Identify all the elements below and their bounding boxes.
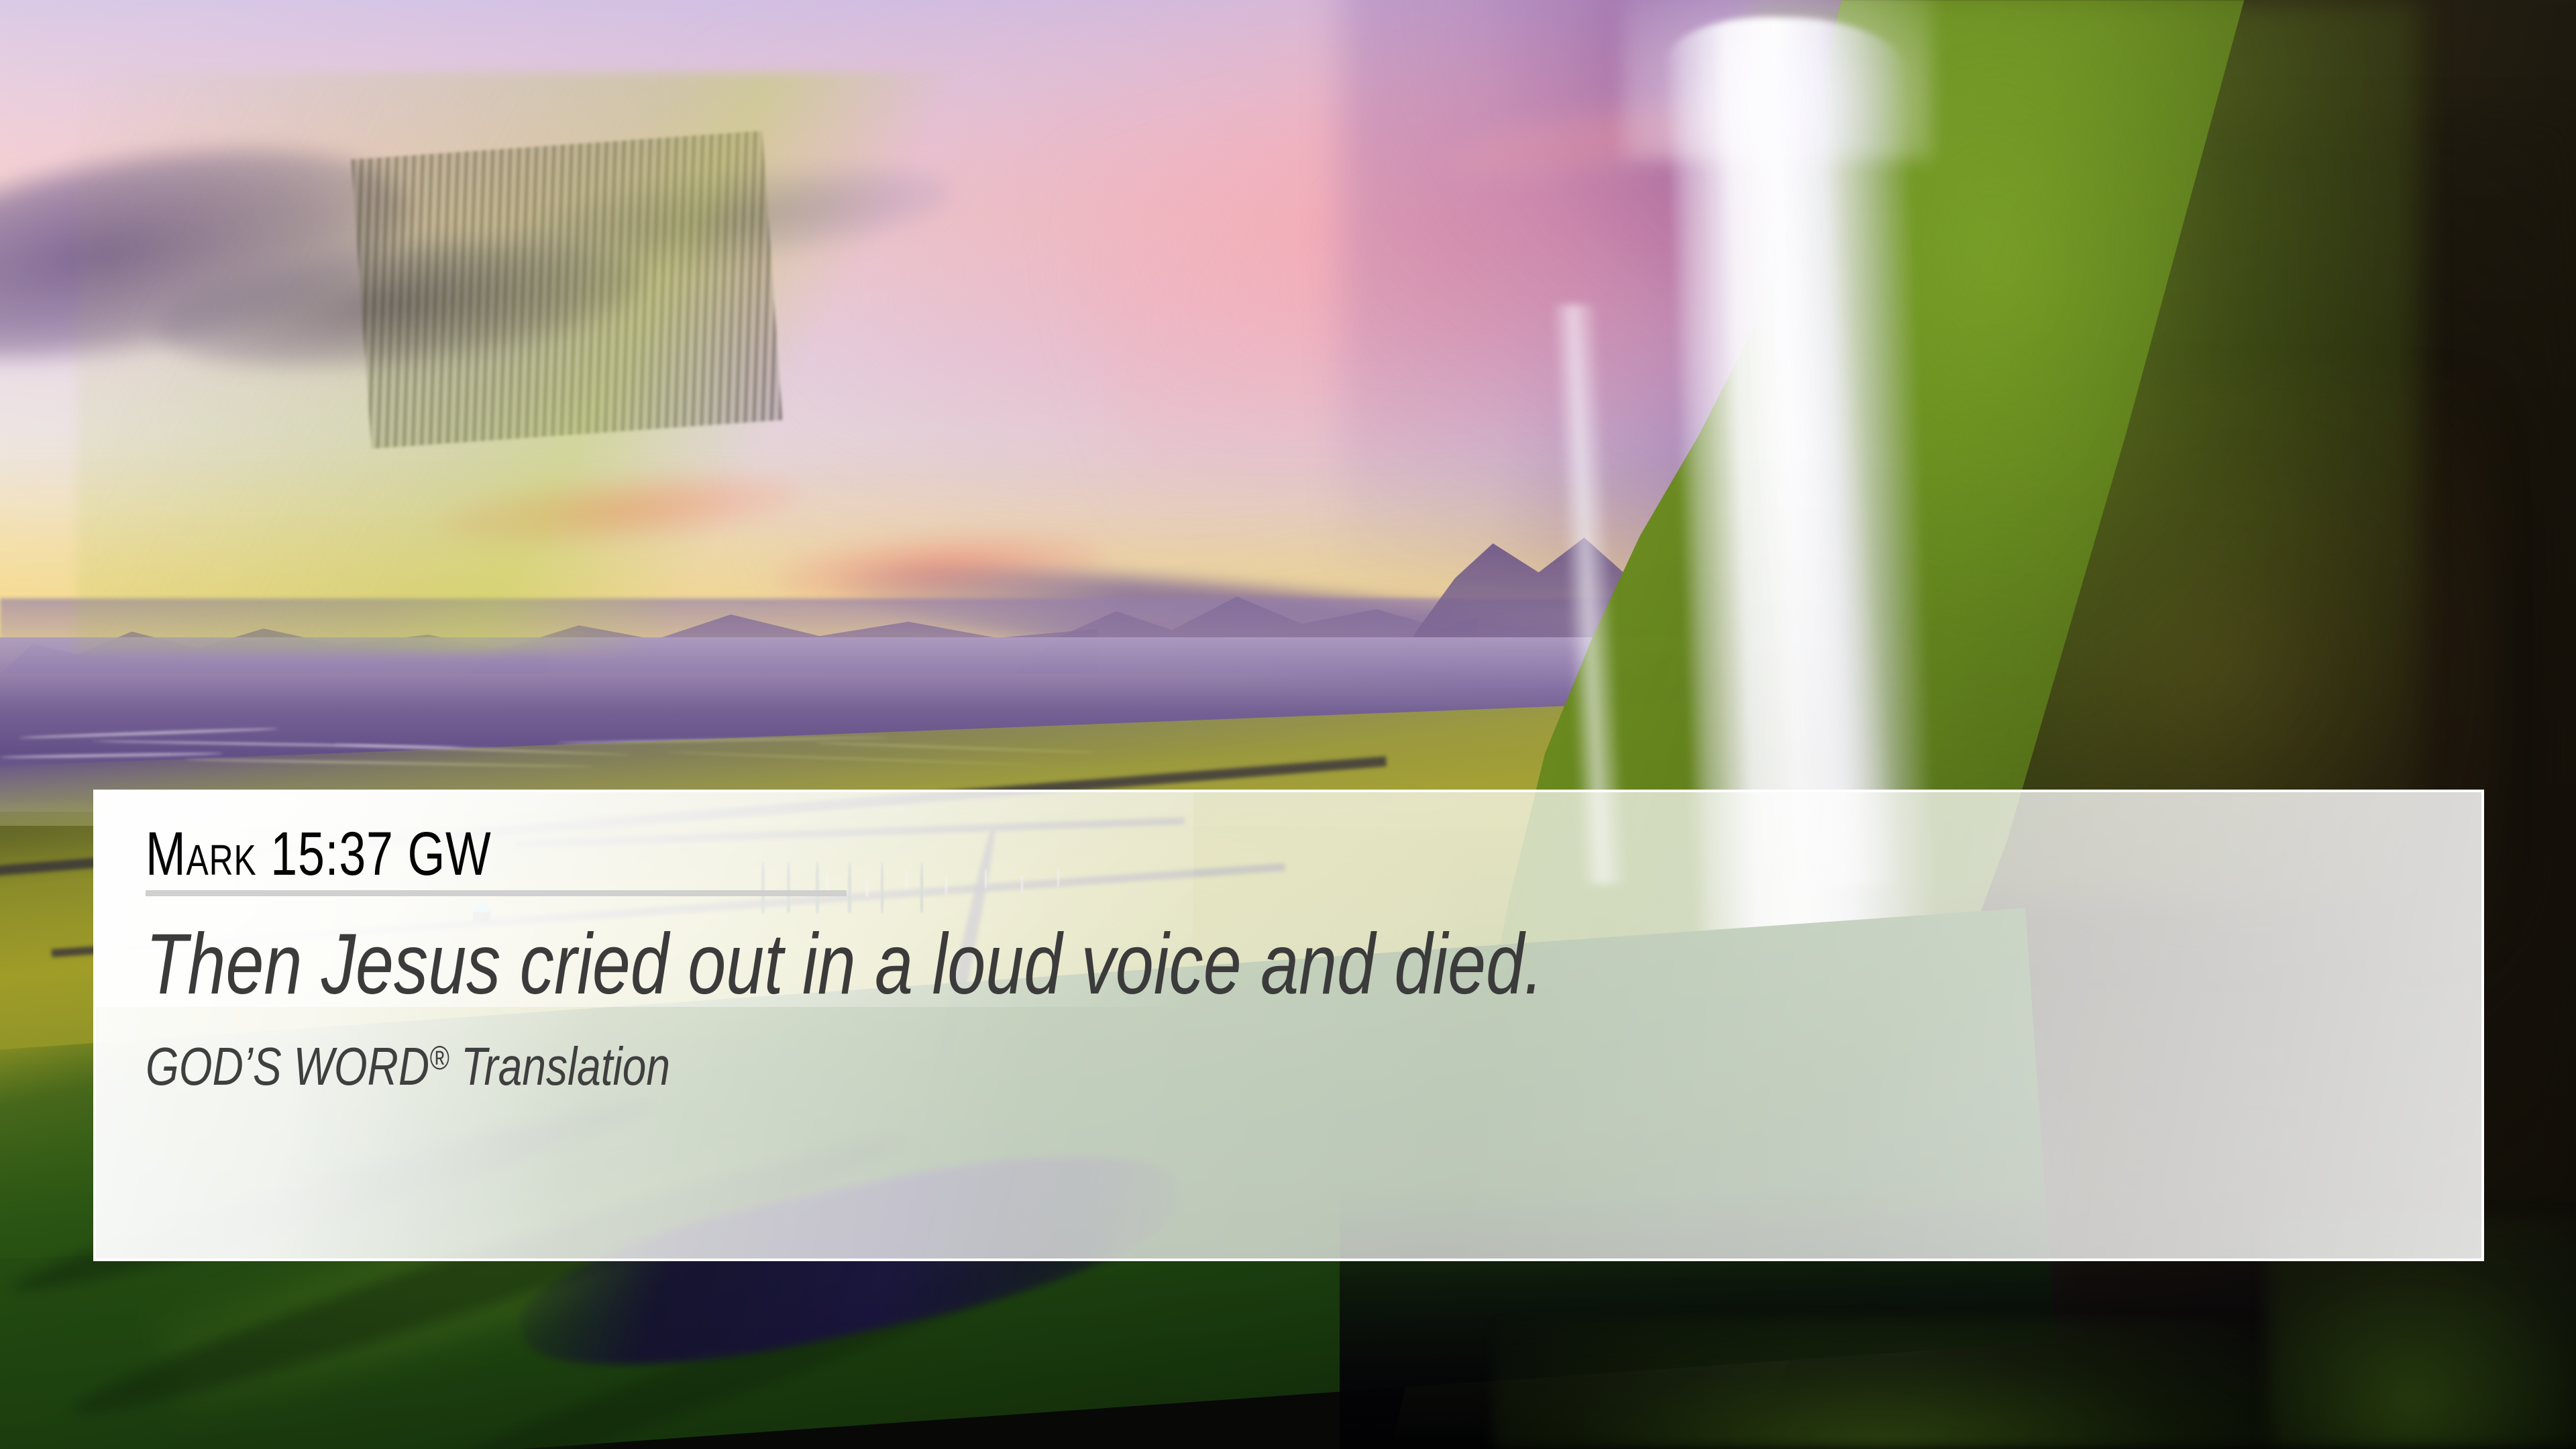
verse-panel-content: Mark 15:37 GW Then Jesus cried out in a … — [96, 792, 2481, 1096]
verse-overlay-panel: Mark 15:37 GW Then Jesus cried out in a … — [93, 790, 2484, 1261]
translation-credit: GOD’S WORD® Translation — [146, 1037, 2015, 1096]
verse-body-text: Then Jesus cried out in a loud voice and… — [146, 919, 2015, 1010]
cliff-rim-light — [77, 72, 1108, 652]
verse-reference-underline — [146, 890, 847, 896]
translation-suffix: Translation — [449, 1036, 670, 1096]
basin-moss-rocks — [1494, 1319, 2267, 1449]
river-braid — [19, 727, 278, 739]
translation-name: GOD’S WORD — [146, 1036, 429, 1096]
registered-trademark-icon: ® — [429, 1039, 449, 1077]
verse-image-card: Mark 15:37 GW Then Jesus cried out in a … — [0, 0, 2576, 1449]
verse-reference: Mark 15:37 GW — [146, 823, 492, 886]
